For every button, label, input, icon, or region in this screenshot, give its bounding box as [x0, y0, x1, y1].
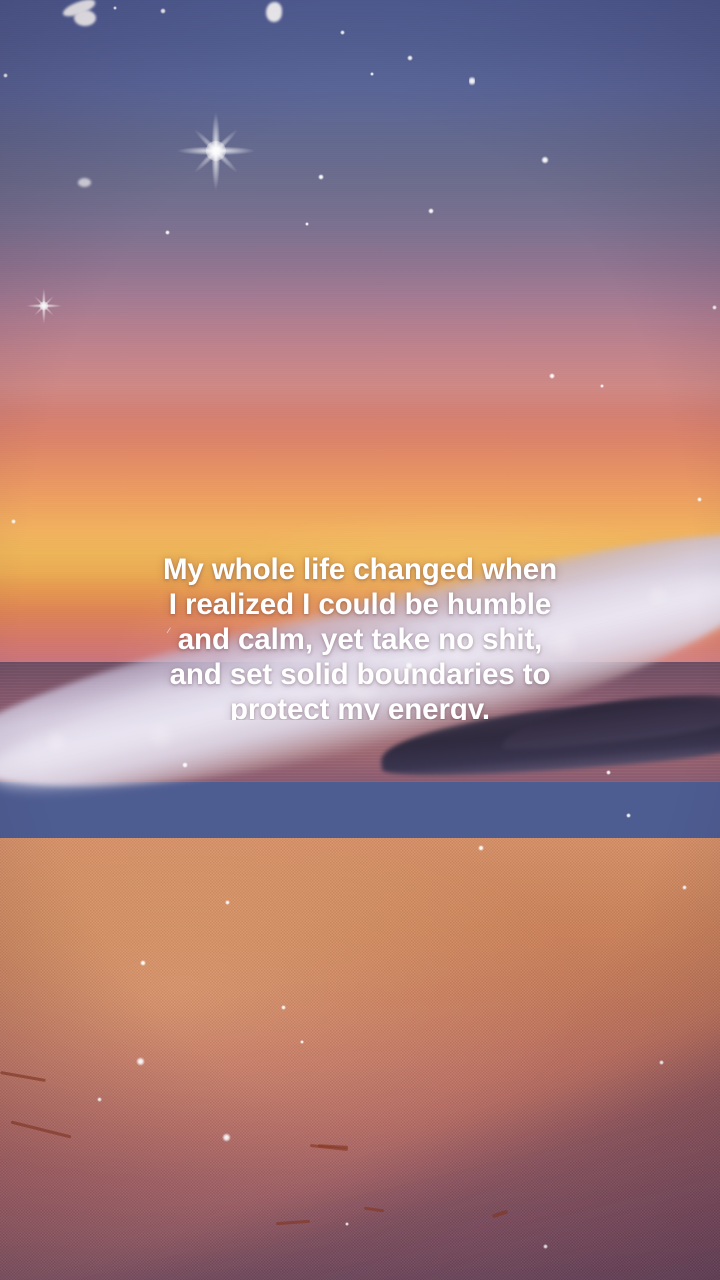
star-dot — [340, 30, 345, 35]
star-dot — [549, 373, 555, 379]
star-dot — [281, 1005, 286, 1010]
quote-line: My whole life changed when — [0, 552, 720, 587]
star-dot — [225, 900, 230, 905]
cloud-wisp — [266, 2, 282, 22]
star-dot — [318, 174, 324, 180]
sparkle-star-icon — [26, 288, 62, 324]
cloud-wisp — [74, 10, 96, 26]
quote-line: and set solid boundaries to — [0, 657, 720, 692]
quote-line: and calm, yet take no shit, — [0, 622, 720, 657]
star-dot — [659, 1060, 664, 1065]
star-dot — [370, 72, 374, 76]
star-dot — [160, 8, 166, 14]
star-dot — [697, 497, 702, 502]
star-dot — [97, 1097, 102, 1102]
star-dot — [600, 384, 604, 388]
star-dot — [478, 845, 484, 851]
star-dot — [626, 813, 631, 818]
star-dot — [469, 75, 475, 87]
star-dot — [345, 1222, 349, 1226]
quote-overlay: My whole life changed when I realized I … — [0, 552, 720, 720]
cloud-wisp — [78, 178, 91, 187]
star-dot — [3, 73, 8, 78]
sparkle-star-icon — [177, 112, 255, 190]
star-dot — [182, 762, 188, 768]
star-dot — [140, 960, 146, 966]
star-dot — [136, 1057, 145, 1066]
star-dot — [606, 770, 611, 775]
sand-grain-texture — [0, 838, 720, 1280]
screenshot-canvas: ⸍ My whole life changed when I realized … — [0, 0, 720, 1280]
quote-text: My whole life changed when I realized I … — [0, 552, 720, 720]
star-dot — [428, 208, 434, 214]
star-dot — [407, 55, 413, 61]
star-dot — [541, 156, 549, 164]
star-dot — [305, 222, 309, 226]
star-dot — [165, 230, 170, 235]
star-dot — [113, 6, 117, 10]
star-dot — [682, 885, 687, 890]
star-dot — [712, 305, 717, 310]
quote-line: protect my energv. — [0, 692, 720, 720]
star-dot — [543, 1244, 548, 1249]
star-dot — [300, 1040, 304, 1044]
star-dot — [11, 519, 16, 524]
quote-line: I realized I could be humble — [0, 587, 720, 622]
star-dot — [222, 1133, 231, 1142]
